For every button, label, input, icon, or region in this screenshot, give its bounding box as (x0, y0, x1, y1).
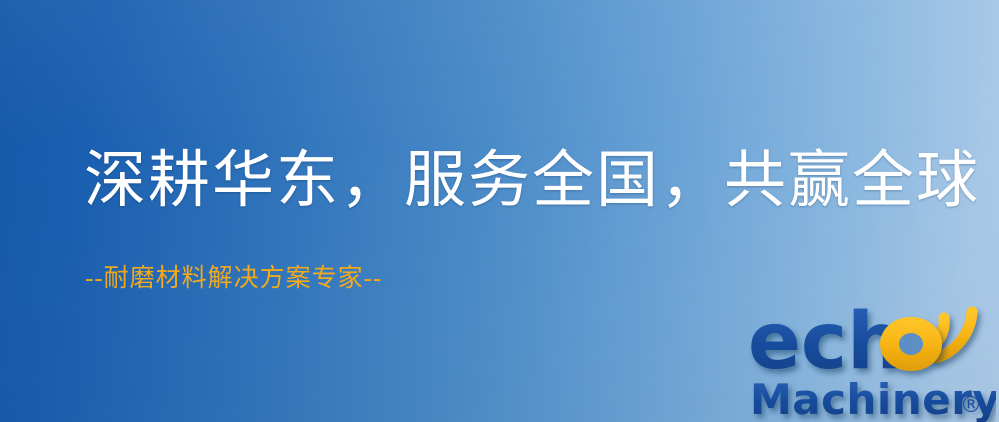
logo-o-letter (880, 317, 942, 371)
hero-banner: 深耕华东，服务全国，共赢全球 --耐磨材料解决方案专家-- (0, 0, 999, 422)
logo-machinery-text: Machinery ® (750, 375, 996, 422)
banner-subtitle: --耐磨材料解决方案专家-- (85, 266, 382, 291)
logo-o-inner-hole (899, 333, 923, 355)
echo-machinery-logo: ech Machinery ® (748, 296, 996, 422)
logo-artwork: ech Machinery ® (748, 296, 996, 422)
banner-headline: 深耕华东，服务全国，共赢全球 (84, 150, 980, 212)
logo-registered-trademark-symbol: ® (960, 393, 982, 418)
logo-ech-letters: ech (748, 297, 903, 387)
logo-echo-text: ech (748, 297, 942, 387)
